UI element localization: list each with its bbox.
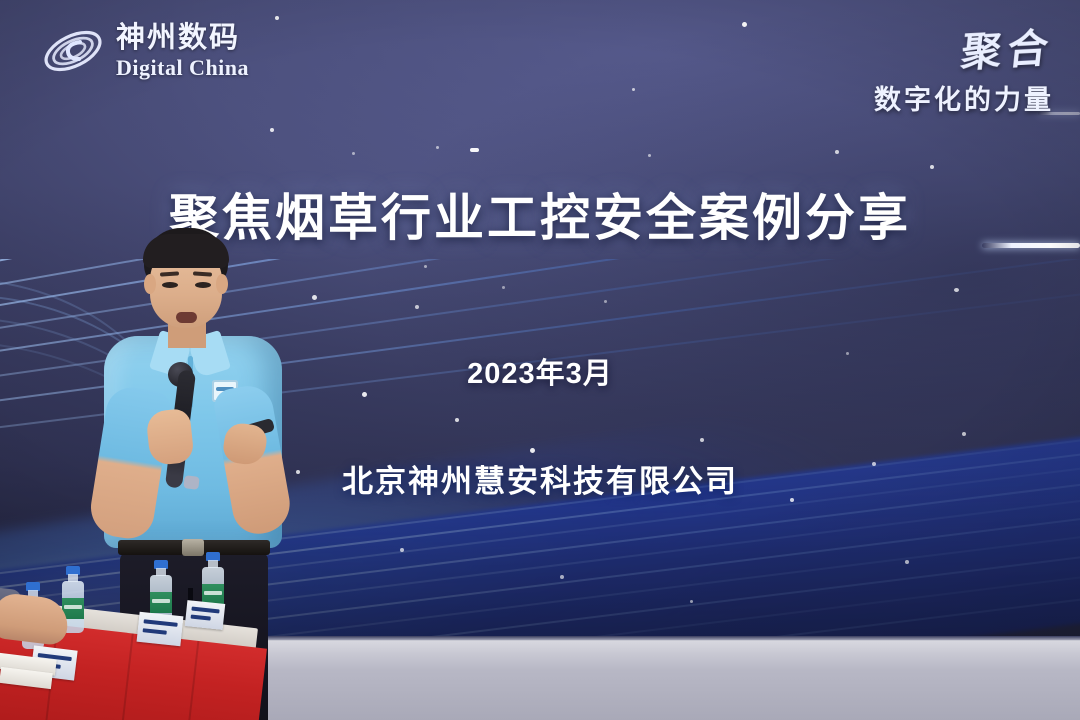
name-card [137, 612, 184, 646]
event-logo: 聚合 数字化的力量 [874, 18, 1054, 117]
logo-name-en: Digital China [116, 56, 249, 79]
speaker-hair-front [143, 234, 229, 268]
speaker-eye-left [162, 282, 178, 288]
speaker-mouth [176, 312, 197, 323]
microphone-base [183, 475, 199, 490]
speaker-hand-right [145, 408, 194, 466]
speaker-ear-left [144, 274, 156, 294]
stage-photo-scene: 神州数码 Digital China 聚合 数字化的力量 聚焦烟草行业工控安全案… [0, 0, 1080, 720]
speaker-eye-right [195, 282, 211, 288]
event-logo-tagline: 数字化的力量 [874, 78, 1054, 117]
logo-name-cn: 神州数码 [116, 23, 249, 53]
speaker-ear-right [216, 274, 228, 294]
galaxy-swirl-icon [40, 22, 106, 80]
digital-china-logo: 神州数码 Digital China [40, 22, 249, 80]
speaker-belt-buckle [182, 539, 204, 556]
event-logo-calligraphy: 聚合 [959, 16, 1058, 79]
name-card [185, 600, 226, 630]
